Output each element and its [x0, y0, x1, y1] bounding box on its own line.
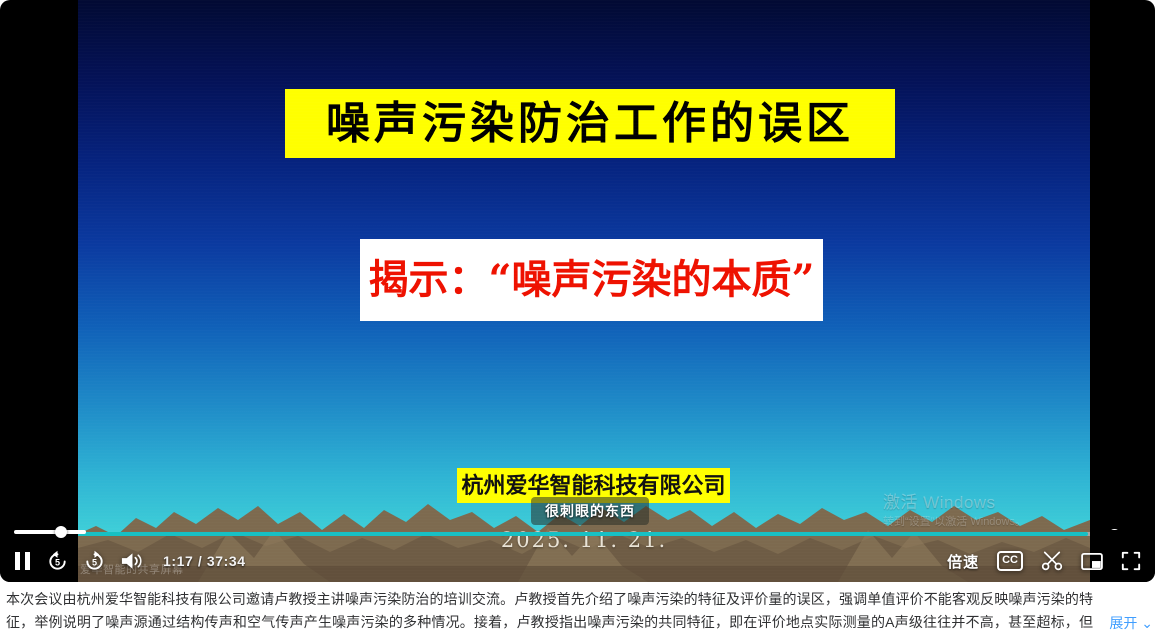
expand-description-label: 展开 [1109, 615, 1137, 631]
scissors-icon[interactable] [1041, 551, 1063, 571]
fullscreen-icon[interactable] [1121, 551, 1141, 571]
volume-icon[interactable] [120, 551, 143, 571]
video-description-text: 本次会议由杭州爱华智能科技有限公司邀请卢教授主讲噪声污染防治的培训交流。卢教授首… [6, 588, 1155, 634]
svg-text:5: 5 [55, 557, 60, 567]
rewind-5-button[interactable]: 5 [46, 550, 69, 573]
chevron-down-icon: ⌄ [1141, 615, 1153, 631]
captions-icon[interactable]: CC [997, 551, 1023, 571]
progress-track[interactable] [14, 532, 1141, 536]
windows-activation-watermark: 激活 Windows 转到“设置”以激活 Windows。 [883, 492, 1026, 530]
pause-button[interactable] [14, 551, 32, 571]
player-control-bar[interactable]: 5 5 1:17 / 37:34 [0, 540, 1155, 582]
volume-slider[interactable] [14, 530, 86, 534]
player-controls-left: 5 5 1:17 / 37:34 [14, 550, 246, 573]
svg-text:5: 5 [92, 557, 97, 567]
slide-company-name: 杭州爱华智能科技有限公司 [461, 475, 725, 497]
video-frame[interactable]: 噪声污染防治工作的误区 揭示：“噪声污染的本质” 杭州爱华智能科技有限公司 很刺… [78, 0, 1090, 582]
video-description: 本次会议由杭州爱华智能科技有限公司邀请卢教授主讲噪声污染防治的培训交流。卢教授首… [0, 588, 1161, 634]
video-player[interactable]: 噪声污染防治工作的误区 揭示：“噪声污染的本质” 杭州爱华智能科技有限公司 很刺… [0, 0, 1155, 582]
slide-title-box: 噪声污染防治工作的误区 [285, 89, 895, 158]
player-controls-right: 倍速 CC [947, 551, 1141, 572]
expand-description-button[interactable]: 展开 ⌄ [1099, 612, 1153, 635]
time-display: 1:17 / 37:34 [163, 553, 246, 569]
windows-activation-title: 激活 Windows [883, 492, 1026, 514]
playback-speed-button[interactable]: 倍速 [947, 551, 979, 572]
slide-title: 噪声污染防治工作的误区 [326, 102, 854, 146]
volume-slider-handle[interactable] [55, 526, 67, 538]
windows-activation-subtitle: 转到“设置”以激活 Windows。 [883, 514, 1026, 530]
danmaku-comment: 很刺眼的东西 [531, 497, 649, 525]
slide-subtitle: 揭示：“噪声污染的本质” [368, 260, 814, 300]
progress-fill [14, 532, 1088, 536]
progress-bar[interactable] [0, 529, 1155, 539]
forward-5-button[interactable]: 5 [83, 550, 106, 573]
picture-in-picture-icon[interactable] [1081, 552, 1103, 571]
slide-subtitle-box: 揭示：“噪声污染的本质” [360, 239, 823, 321]
